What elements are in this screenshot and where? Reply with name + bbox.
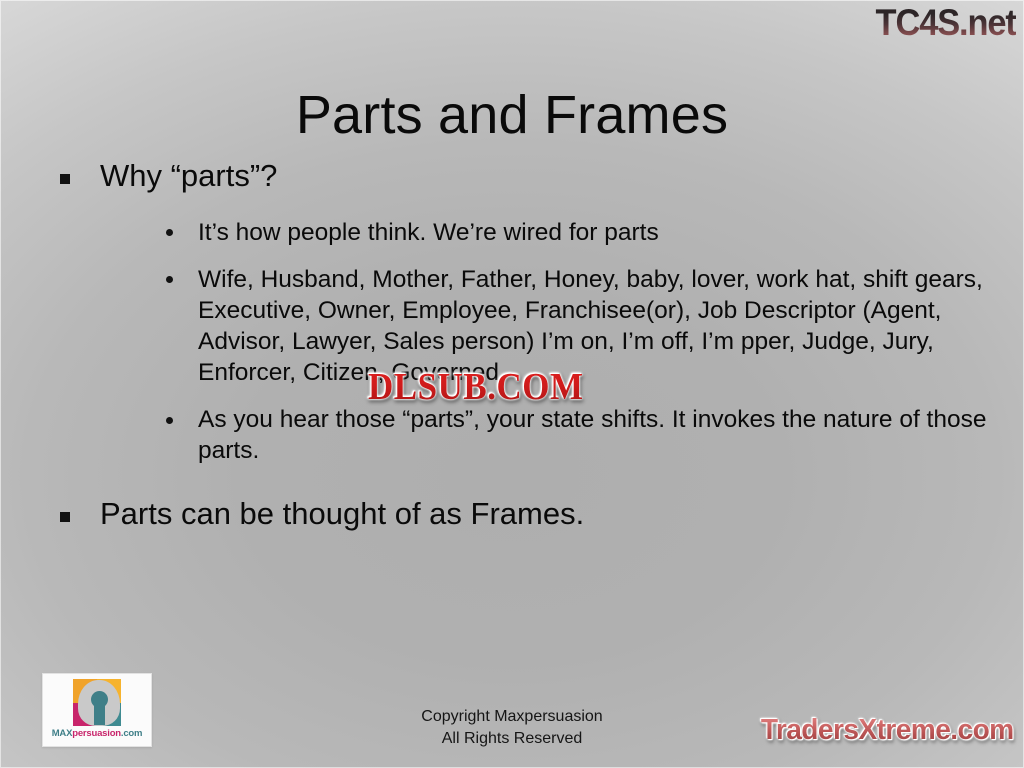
bullet-text: Parts can be thought of as Frames.	[100, 496, 584, 531]
bullet-level1-why-parts: Why “parts”?	[48, 158, 988, 195]
tc4s-brand-logo[interactable]: TC4S.net	[876, 2, 1016, 44]
dlsub-watermark: DLSUB.COM	[368, 365, 584, 409]
square-bullet-icon	[60, 174, 70, 184]
tradersxtreme-logo[interactable]: TradersXtreme.com	[761, 714, 1014, 747]
bullet-text: It’s how people think. We’re wired for p…	[198, 219, 659, 246]
presentation-slide: TC4S.net Parts and Frames Why “parts”? I…	[0, 0, 1024, 768]
bullet-level2-state-shifts: As you hear those “parts”, your state sh…	[48, 404, 988, 466]
bullet-text: Why “parts”?	[100, 158, 277, 193]
dot-bullet-icon	[166, 229, 173, 236]
spacer	[48, 248, 988, 264]
dot-bullet-icon	[166, 417, 173, 424]
bullet-text: Wife, Husband, Mother, Father, Honey, ba…	[198, 266, 983, 386]
dot-bullet-icon	[166, 276, 173, 283]
bullet-text: As you hear those “parts”, your state sh…	[198, 406, 987, 464]
slide-body: Why “parts”? It’s how people think. We’r…	[48, 158, 988, 533]
bullet-level1-parts-as-frames: Parts can be thought of as Frames.	[48, 496, 988, 533]
bullet-level2-how-people-think: It’s how people think. We’re wired for p…	[48, 217, 988, 248]
spacer	[48, 466, 988, 496]
spacer	[48, 195, 988, 217]
square-bullet-icon	[60, 512, 70, 522]
slide-title: Parts and Frames	[0, 88, 1024, 142]
